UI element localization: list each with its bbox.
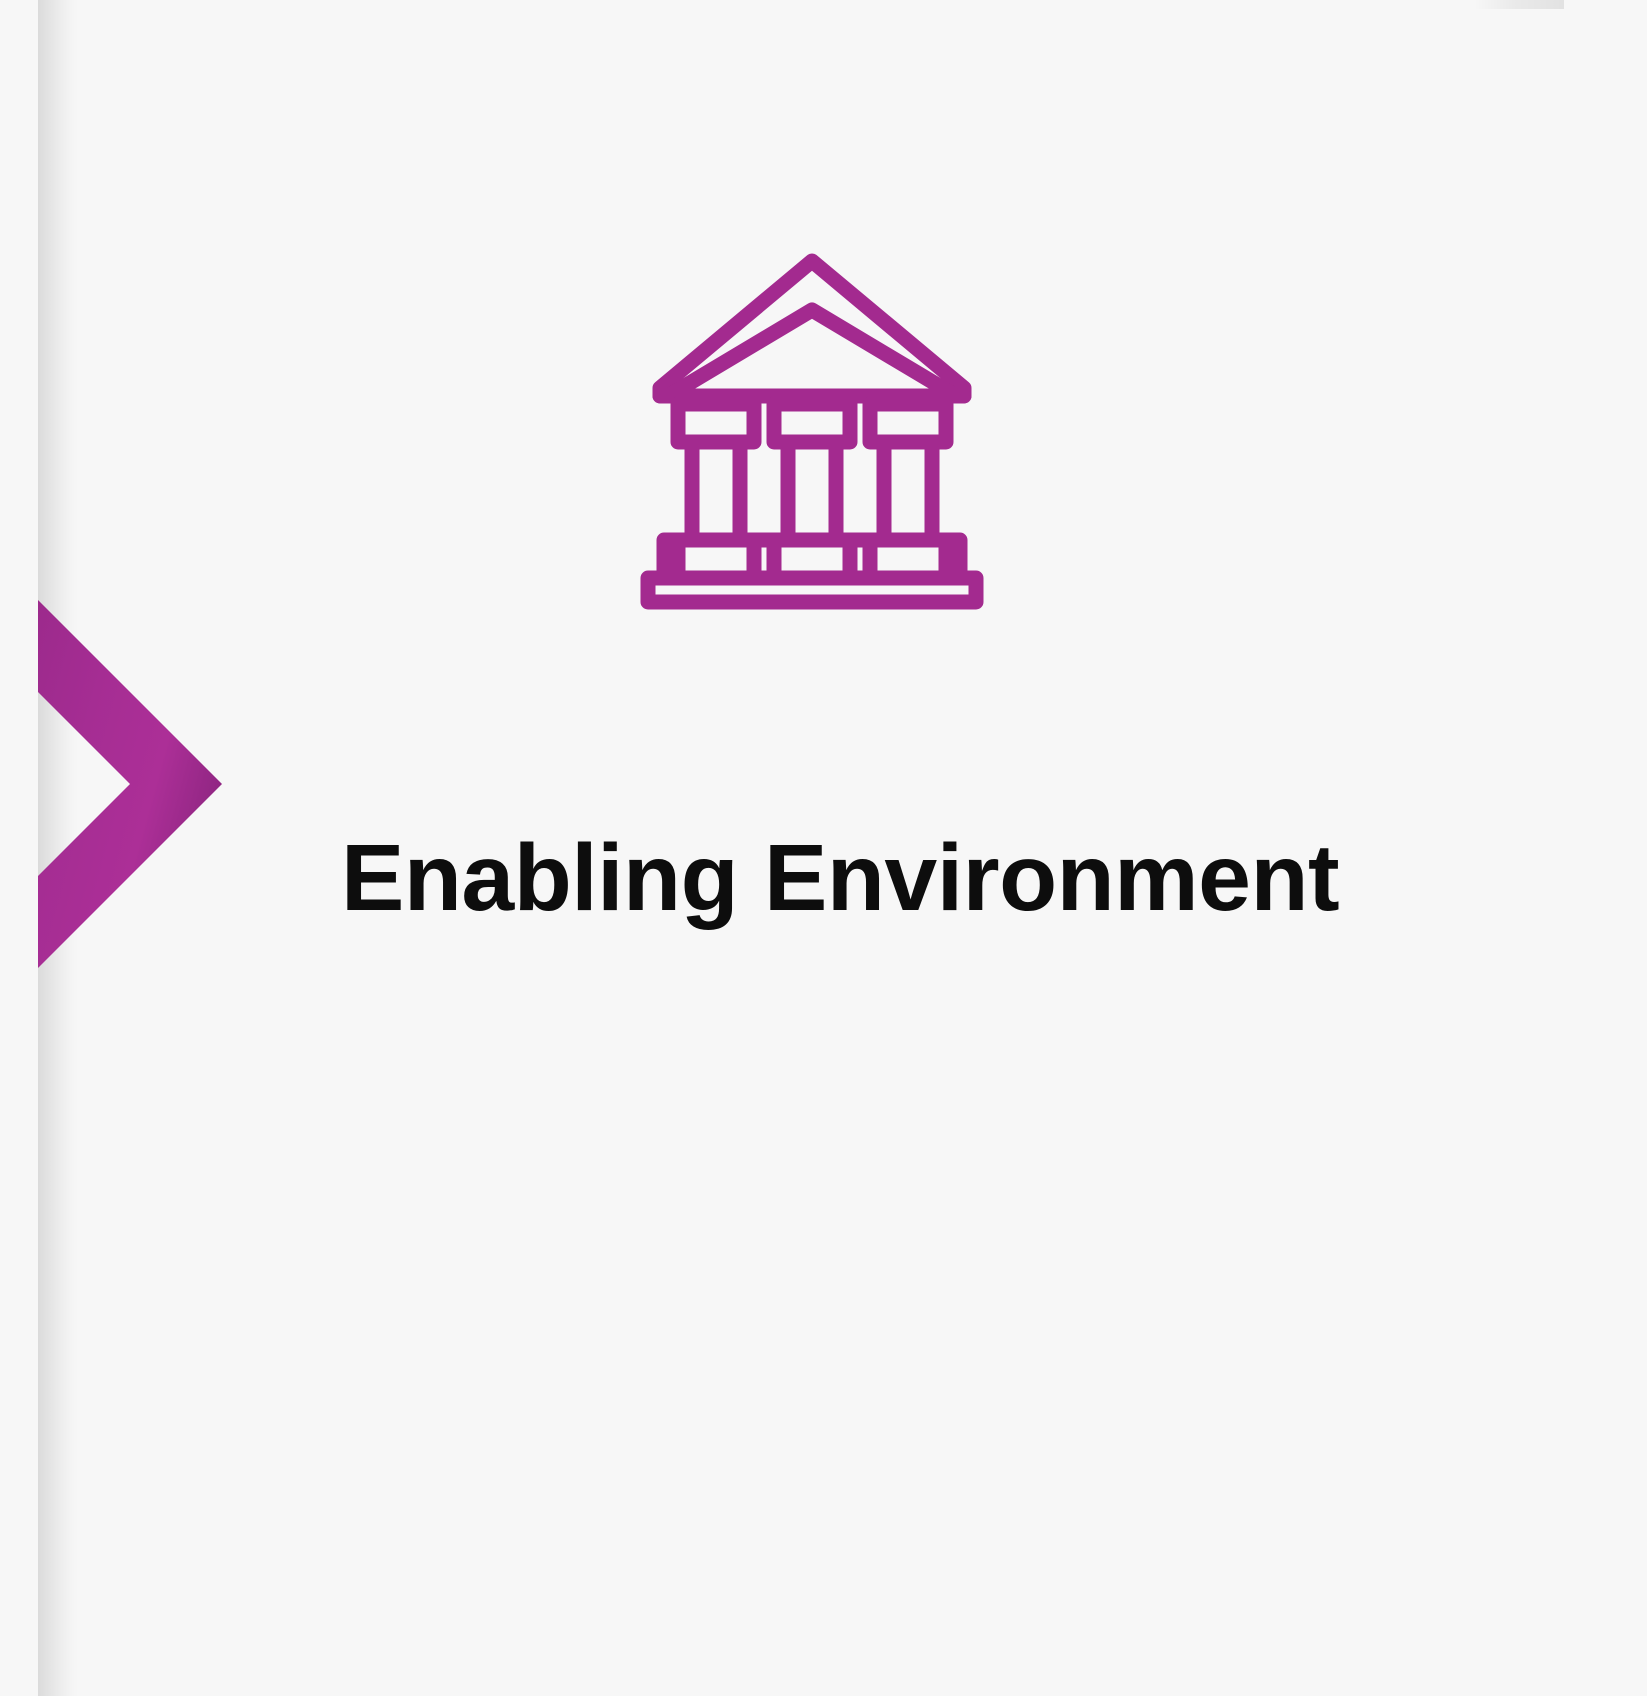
top-right-edge-shadow: [1474, 0, 1564, 9]
chevron-right-icon: [30, 596, 230, 972]
slide-canvas: Enabling Environment: [0, 0, 1647, 1696]
bank-building-icon: [638, 248, 986, 610]
page-title: Enabling Environment: [341, 831, 1541, 926]
